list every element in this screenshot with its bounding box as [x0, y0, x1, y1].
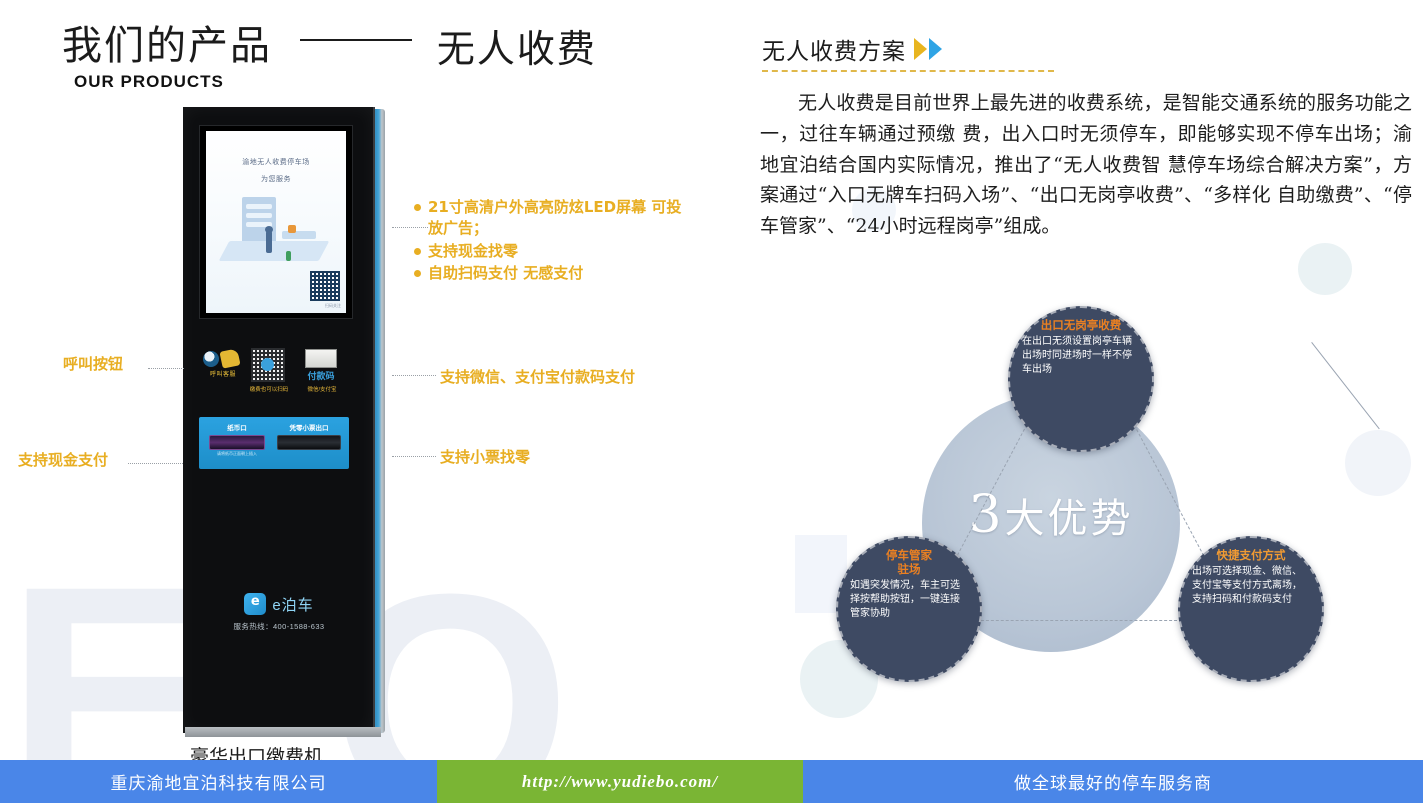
scan-qr-caption: 缴费也可以扫码 — [241, 385, 297, 393]
solution-heading-text: 无人收费方案 — [762, 32, 906, 66]
list-item: 支持现金找零 — [428, 241, 688, 262]
chevron-right-icon-gold — [914, 38, 927, 60]
chevron-right-icon-blue — [929, 38, 942, 60]
list-item: 21寸高清户外高亮防炫LED屏幕 可投放广告； — [428, 197, 688, 240]
bubble-title: 出口无岗亭收费 — [1022, 318, 1140, 332]
leader-line-ticket — [392, 456, 436, 457]
banknote-slot-note: 请将纸币正面朝上插入 — [209, 451, 265, 457]
kiosk-base — [185, 727, 381, 737]
footer-url[interactable]: http://www.yudiebo.com/ — [437, 760, 803, 803]
brand-hotline: 服务热线：400-1588-633 — [213, 621, 345, 632]
call-service-icon[interactable] — [203, 351, 219, 367]
diagram-center-number: 3 — [968, 485, 1004, 545]
kiosk-screen-line-1: 渝地无人收费停车场 — [206, 157, 346, 167]
leader-line-cash — [128, 463, 183, 464]
diagram-pointer-right — [1311, 342, 1380, 429]
leader-line-bullets — [392, 227, 428, 228]
kiosk-screen-qr-icon — [310, 271, 340, 301]
solution-heading: 无人收费方案 — [762, 32, 942, 66]
footer-company: 重庆渝地宜泊科技有限公司 — [0, 760, 437, 803]
diagram-center-text: 大优势 — [1005, 496, 1134, 542]
kiosk-product-image: 渝地无人收费停车场 为您服务 扫码 — [183, 107, 391, 737]
bubble-title: 停车管家 驻场 — [850, 548, 968, 576]
kiosk-display: 渝地无人收费停车场 为您服务 扫码 — [206, 131, 346, 313]
list-item: 自助扫码支付 无感支付 — [428, 263, 688, 284]
banknote-slot[interactable] — [209, 435, 265, 450]
kiosk-cash-tray: 纸币口 请将纸币正面朝上插入 凭零小票出口 — [199, 417, 349, 469]
bubble-text: 如遇突发情况，车主可选择按帮助按钮，一键连接管家协助 — [850, 579, 968, 622]
footer-slogan: 做全球最好的停车服务商 — [803, 760, 1423, 803]
pay-code-scanner-window[interactable] — [305, 349, 337, 368]
feature-bullet-list: 21寸高清户外高亮防炫LED屏幕 可投放广告； 支持现金找零 自助扫码支付 无感… — [428, 197, 688, 285]
eparking-logo-icon — [244, 593, 266, 615]
page-subtitle-cn: 无人收费 — [437, 18, 597, 73]
kiosk-control-panel: 呼叫客服 缴费也可以扫码 付款码 微信/支付宝 — [197, 347, 357, 403]
kiosk-screen-line-2: 为您服务 — [206, 174, 346, 184]
bubble-text: 出场可选择现金、微信、 支付宝等支付方式离场， 支持扫码和付款码支付 — [1192, 565, 1310, 608]
diagram-connector-bottom — [976, 620, 1182, 621]
advantages-diagram: 3大优势 出口无岗亭收费 在出口无须设置岗亭车辆出场时同进场时一样不停车出场 停… — [800, 290, 1400, 710]
slide-canvas: E O 我们的产品 无人收费 OUR PRODUCTS 渝地无人收费停车场 为您… — [0, 0, 1423, 803]
kiosk-screen-bezel: 渝地无人收费停车场 为您服务 扫码 — [199, 125, 353, 319]
callout-ticket-change: 支持小票找零 — [440, 446, 530, 467]
advantage-bubble-parking-butler[interactable]: 停车管家 驻场 如遇突发情况，车主可选择按帮助按钮，一键连接管家协助 — [836, 536, 982, 682]
advantage-bubble-fast-payment[interactable]: 快捷支付方式 出场可选择现金、微信、 支付宝等支付方式离场， 支持扫码和付款码支… — [1178, 536, 1324, 682]
heading-dashed-rule — [762, 70, 1054, 72]
callout-call-button: 呼叫按钮 — [63, 353, 123, 374]
advantage-bubble-exit-no-booth[interactable]: 出口无岗亭收费 在出口无须设置岗亭车辆出场时同进场时一样不停车出场 — [1008, 306, 1154, 452]
bubble-text: 在出口无须设置岗亭车辆出场时同进场时一样不停车出场 — [1022, 335, 1140, 378]
kiosk-branding: e泊车 服务热线：400-1588-633 — [213, 593, 345, 632]
kiosk-screen-qr-caption: 扫码关注 — [325, 303, 341, 309]
footer-bar: 重庆渝地宜泊科技有限公司 http://www.yudiebo.com/ 做全球… — [0, 760, 1423, 803]
callout-wechat-alipay: 支持微信、支付宝付款码支付 — [440, 366, 635, 387]
receipt-outlet[interactable] — [277, 435, 341, 450]
page-title: 我们的产品 无人收费 — [62, 18, 597, 73]
bubble-title-line1: 停车管家 — [886, 548, 932, 562]
banknote-slot-label: 纸币口 — [209, 422, 265, 432]
kiosk-screen-illustration — [222, 197, 330, 277]
receipt-outlet-label: 凭零小票出口 — [277, 422, 341, 432]
diagram-center-label: 3大优势 — [922, 485, 1180, 545]
callout-cash-payment: 支持现金支付 — [18, 449, 108, 470]
bubble-title: 快捷支付方式 — [1192, 548, 1310, 562]
scan-qr-center-dot-icon — [261, 358, 274, 371]
pay-code-label: 付款码 — [299, 369, 343, 382]
bubble-title-line2: 驻场 — [898, 562, 921, 576]
pay-code-sublabel: 微信/支付宝 — [297, 385, 347, 393]
leader-line-wechat — [392, 375, 436, 376]
call-service-label: 呼叫客服 — [199, 369, 247, 378]
solution-paragraph: 无人收费是目前世界上最先进的收费系统，是智能交通系统的服务功能之一，过往车辆通过… — [760, 88, 1412, 242]
title-divider-rule — [300, 39, 412, 41]
brand-name: e泊车 — [272, 594, 313, 615]
hand-pointer-icon — [219, 348, 240, 368]
page-title-en: OUR PRODUCTS — [74, 72, 224, 92]
page-title-cn: 我们的产品 — [62, 24, 272, 68]
kiosk-body: 渝地无人收费停车场 为您服务 扫码 — [183, 107, 375, 733]
leader-line-call — [148, 368, 184, 369]
